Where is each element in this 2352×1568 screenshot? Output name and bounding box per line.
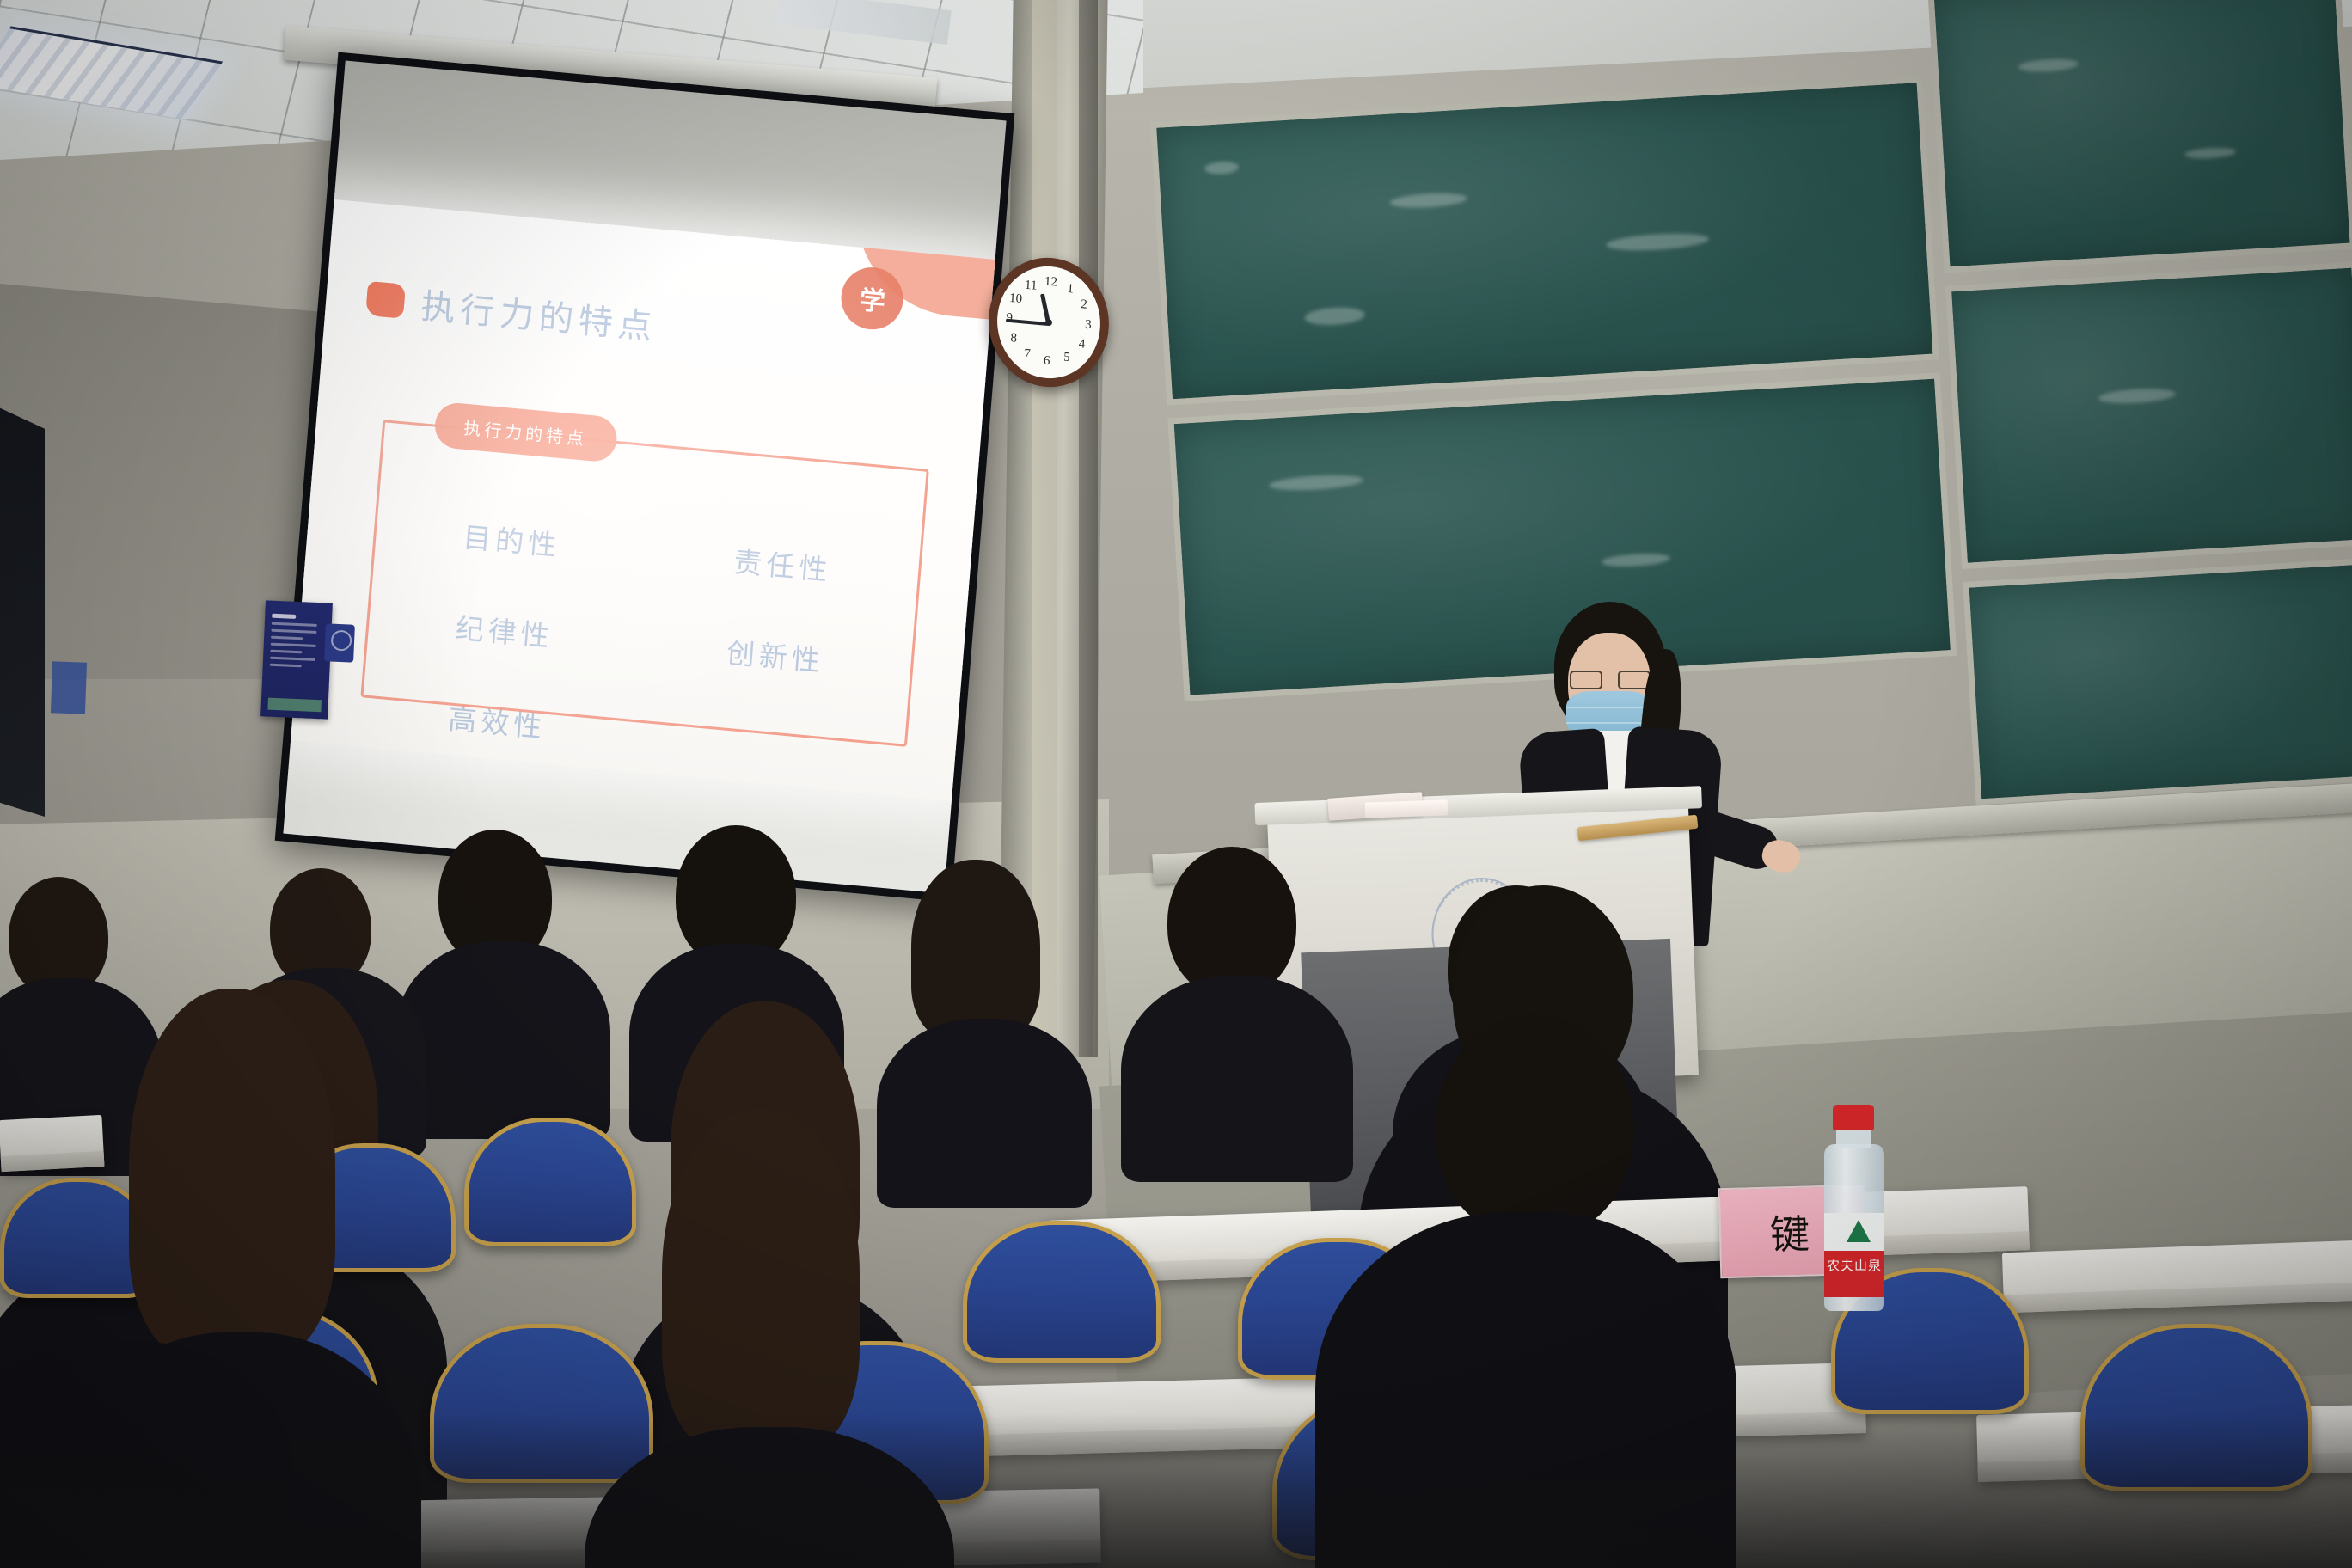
poster-footer-band	[267, 698, 322, 713]
blackboard-panel-right-upper	[1927, 0, 2352, 273]
slide-item: 目的性	[462, 515, 562, 565]
screen-surface: 学 执行力的特点 执行力的特点 目的性 纪律性 高效性 责任性	[283, 60, 1006, 893]
slide-item: 创新性	[725, 630, 825, 680]
slide-bullet-icon	[365, 281, 406, 319]
poster-text-line	[270, 664, 302, 668]
wall-sign-small	[51, 661, 87, 714]
clock-numeral: 11	[1023, 278, 1039, 294]
audience-member	[413, 830, 593, 1113]
projected-slide: 学 执行力的特点 执行力的特点 目的性 纪律性 高效性 责任性	[283, 199, 1006, 802]
clock-center-pin	[1045, 319, 1052, 327]
slide-item: 高效性	[447, 696, 548, 746]
clock-numeral: 3	[1080, 317, 1096, 334]
bottle-brand-text: 农夫山泉	[1824, 1256, 1884, 1274]
poster-text-line	[271, 636, 303, 640]
poster-text-line	[271, 629, 316, 634]
bottle-neck	[1836, 1129, 1871, 1148]
clock-numeral: 5	[1058, 350, 1075, 366]
poster-text-line	[270, 650, 302, 654]
projector-screen[interactable]: 学 执行力的特点 执行力的特点 目的性 纪律性 高效性 责任性	[275, 52, 1015, 903]
clock-numeral: 6	[1038, 353, 1055, 370]
clock-numeral: 7	[1020, 346, 1036, 363]
desk	[2002, 1240, 2352, 1314]
clock-numeral: 1	[1063, 281, 1079, 297]
clock-numeral: 10	[1008, 291, 1024, 308]
slide-column-right: 责任性 创新性	[634, 507, 922, 744]
clock-numeral: 2	[1076, 297, 1093, 314]
blackboard-panel-center-upper	[1150, 77, 1939, 406]
slide-title-row: 执行力的特点	[364, 273, 659, 350]
water-bottle: 农夫山泉	[1821, 1105, 1888, 1311]
poster-heading-line	[272, 614, 296, 619]
blackboard-panel-right-lower	[1963, 558, 2352, 805]
clock-numeral: 12	[1043, 274, 1059, 291]
audience-member	[1135, 847, 1332, 1148]
wall-poster-blue	[260, 600, 333, 719]
slide-item: 责任性	[732, 539, 833, 589]
slide-item: 纪律性	[454, 605, 554, 655]
audience-member	[885, 860, 1075, 1152]
classroom-scene: 学 执行力的特点 执行力的特点 目的性 纪律性 高效性 责任性	[0, 0, 2352, 1568]
blackboard-panel-right-middle	[1945, 261, 2352, 569]
slide-content-box: 执行力的特点 目的性 纪律性 高效性 责任性 创新性	[360, 420, 929, 746]
clock-face: 121234567891011	[995, 262, 1103, 383]
podium-papers-secondary	[1365, 799, 1449, 818]
left-dark-cabinet	[0, 404, 45, 817]
desk	[0, 1115, 104, 1172]
clock-numeral: 8	[1006, 331, 1022, 347]
poster-text-line	[272, 622, 317, 627]
wall-poster-badge-icon	[324, 623, 355, 662]
slide-title: 执行力的特点	[420, 279, 660, 350]
poster-text-line	[271, 643, 316, 647]
bottle-mountain-icon	[1847, 1220, 1871, 1242]
pillar-edge-shadow	[1079, 0, 1098, 1057]
bottle-label-lower: 农夫山泉	[1824, 1251, 1884, 1297]
bottle-cap	[1833, 1105, 1874, 1130]
slide-columns: 目的性 纪律性 高效性 责任性 创新性	[363, 482, 922, 744]
clock-numeral: 4	[1074, 337, 1090, 353]
poster-text-line	[270, 657, 315, 661]
glasses-icon	[1570, 671, 1651, 691]
slide-badge-label: 执行力的特点	[433, 401, 618, 463]
floor-shadow	[0, 1413, 2352, 1568]
slide-column-left: 目的性 纪律性 高效性	[363, 482, 651, 719]
